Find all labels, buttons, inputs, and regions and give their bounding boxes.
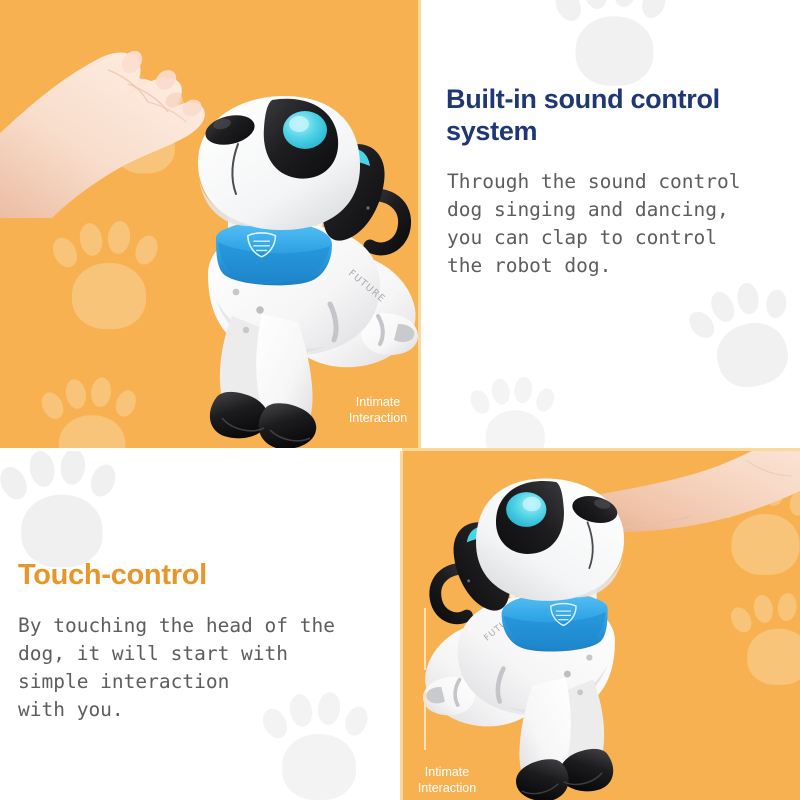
vertical-divider-top [418,0,421,450]
robot-dog: FUTURE [402,462,726,800]
touch-control-body: By touching the head of the dog, it will… [18,612,398,724]
horizontal-divider-left [0,448,420,451]
vertical-divider-bottom [400,450,403,800]
photo-panel-sound-control: FUTURE [0,0,420,450]
text-panel-sound-control: Built-in sound control system Through th… [420,0,800,450]
horizontal-divider-right [402,448,800,451]
text-panel-touch-control: Touch-control By touching the head of th… [0,450,402,800]
caption-leader-line [424,692,426,750]
intimate-interaction-caption: Intimate Interaction [402,764,498,796]
caption-leader-line [424,608,426,670]
product-infographic: FUTURE [0,0,800,800]
intimate-interaction-caption: Intimate Interaction [336,394,420,426]
sound-control-body: Through the sound control dog singing an… [447,168,797,280]
photo-panel-touch-control: FUTURE [402,450,800,800]
touch-control-heading: Touch-control [18,558,378,592]
sound-control-heading: Built-in sound control system [446,84,784,148]
